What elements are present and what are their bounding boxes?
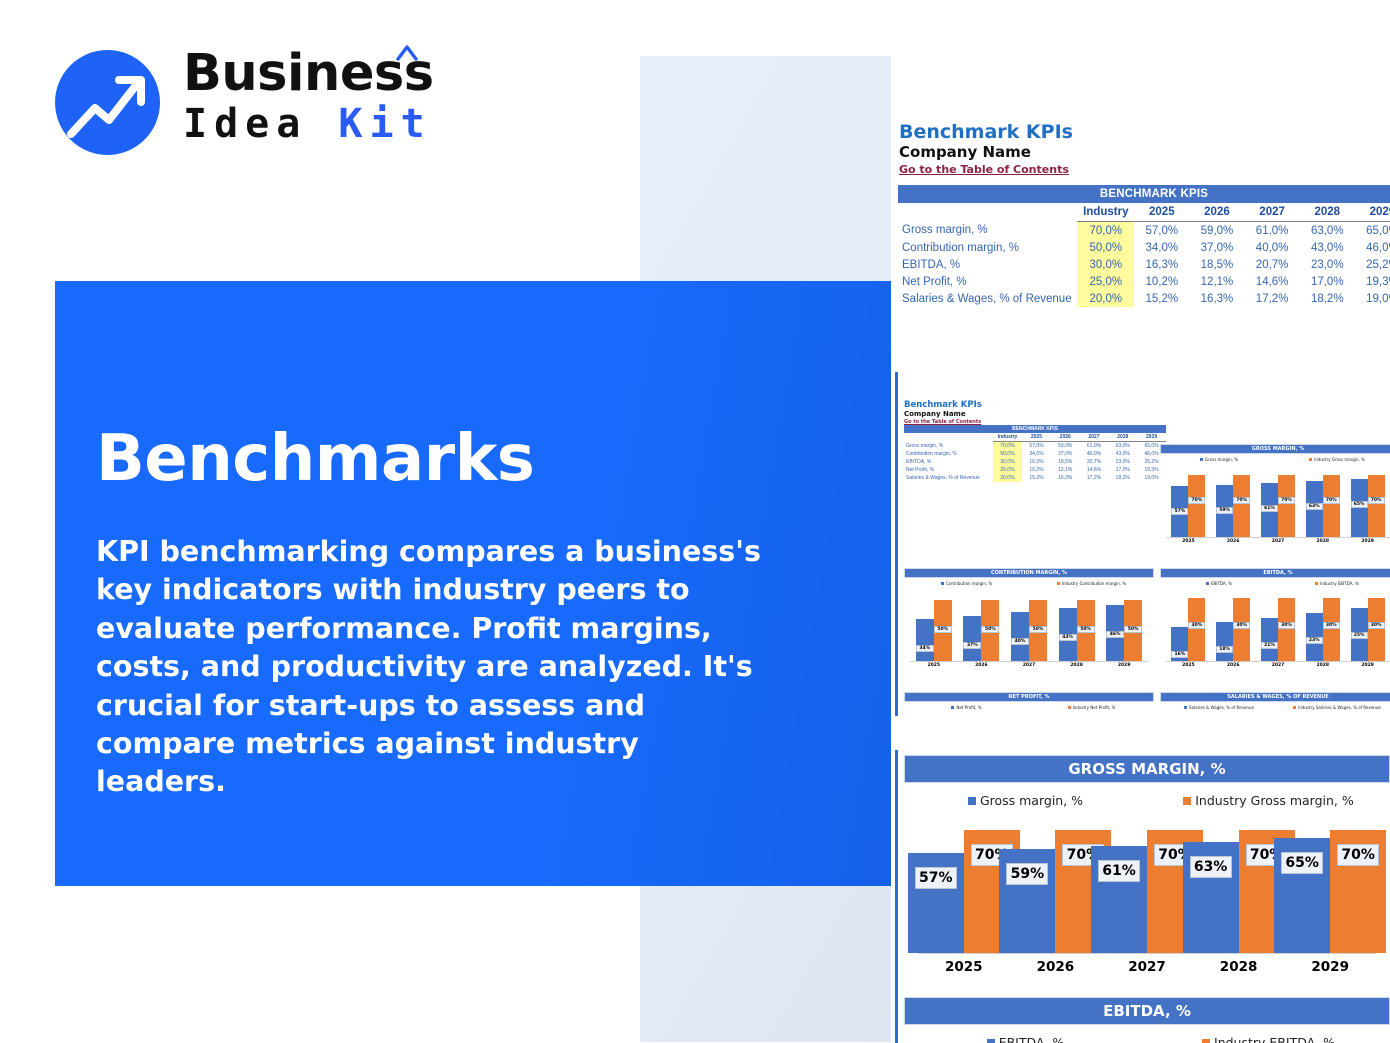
- cell-2027: 14,6%: [1080, 466, 1109, 474]
- legend-swatch-series1: [968, 797, 976, 805]
- bar-2026-s2: [1233, 598, 1250, 661]
- legend-swatch-series1: [951, 706, 954, 709]
- data-label-2026-s2: 70%: [1233, 497, 1250, 504]
- x-axis-label-2025: 2025: [1166, 663, 1211, 668]
- cell-industry: 20,0%: [993, 474, 1022, 482]
- bar-2027-s2: [1278, 598, 1295, 661]
- legend-label-series2: Industry EBITDA, %: [1214, 1035, 1335, 1043]
- data-label-2029-s1: 25%: [1351, 632, 1368, 639]
- row-label: Salaries & Wages, % of Revenue: [904, 474, 993, 482]
- legend-swatch-series1: [1206, 582, 1209, 585]
- data-label-2029-s1: 65%: [1281, 852, 1323, 874]
- data-label-2025-s2: 70%: [1188, 497, 1205, 504]
- data-label-2029-s2: 70%: [1337, 844, 1379, 866]
- header-industry-mini: Industry: [993, 433, 1022, 442]
- table-banner-label: BENCHMARK KPIS: [898, 185, 1390, 203]
- legend-label-series2: Industry Gross margin, %: [1195, 793, 1354, 808]
- x-axis-label-2029: 2029: [1100, 663, 1148, 668]
- bar-2025-s1: [916, 619, 934, 661]
- sheet-title-mini: Benchmark KPIs: [904, 400, 982, 410]
- x-axis-label-2029: 2029: [1345, 539, 1390, 544]
- data-label-2025-s2: 30%: [1188, 622, 1205, 629]
- bar-2026-s2: [1233, 475, 1250, 537]
- cell-2028: 23,0%: [1300, 256, 1355, 273]
- x-axis-label-2027: 2027: [1005, 663, 1053, 668]
- chart-gross-margin-mini: GROSS MARGIN, % Gross margin, % Industry…: [1160, 444, 1390, 566]
- cell-2025: 57,0%: [1134, 222, 1189, 240]
- header-industry: Industry: [1077, 203, 1134, 222]
- data-label-2029-s2: 50%: [1124, 626, 1142, 633]
- cell-2026: 37,0%: [1189, 239, 1244, 256]
- chart-legend: Salaries & Wages, % of Revenue Industry …: [1160, 705, 1390, 710]
- cell-2025: 15,2%: [1134, 290, 1189, 307]
- data-label-2025-s1: 57%: [1171, 508, 1188, 515]
- x-axis-label-2026: 2026: [1211, 539, 1256, 544]
- bar-2025-s2: [1188, 598, 1205, 661]
- sheet-title: Benchmark KPIs: [899, 121, 1073, 143]
- benchmark-kpis-table-mini: BENCHMARK KPIS Industry 2025 2026 2027 2…: [904, 425, 1166, 482]
- cell-2025: 10,2%: [1022, 466, 1051, 474]
- data-label-2027-s1: 21%: [1261, 642, 1278, 649]
- cell-2027: 40,0%: [1245, 239, 1300, 256]
- row-label: Gross margin, %: [904, 442, 993, 451]
- chart-ebitda-large: EBITDA, % EBITDA, % Industry EBITDA, %: [904, 997, 1390, 1043]
- cell-2029: 25,2%: [1355, 256, 1390, 273]
- chart-net-profit-mini: NET PROFIT, % Net Profit, % Industry Net…: [904, 692, 1154, 714]
- chart-axis: [918, 953, 1376, 954]
- cell-2028: 17,0%: [1300, 273, 1355, 290]
- data-label-2028-s1: 23%: [1306, 637, 1323, 644]
- cell-2026: 59,0%: [1189, 222, 1244, 240]
- cell-industry: 25,0%: [993, 466, 1022, 474]
- data-label-2028-s1: 63%: [1190, 856, 1232, 878]
- header-2026-mini: 2026: [1051, 433, 1080, 442]
- data-label-2027-s2: 50%: [1029, 626, 1047, 633]
- legend-swatch-series1: [1184, 706, 1187, 709]
- table-of-contents-link[interactable]: Go to the Table of Contents: [899, 163, 1069, 176]
- cell-2027: 20,7%: [1080, 458, 1109, 466]
- cell-2026: 12,1%: [1189, 273, 1244, 290]
- legend-label-series1: Net Profit, %: [956, 705, 981, 710]
- legend-swatch-series2: [1293, 706, 1296, 709]
- brand-name-kit: Kit: [338, 101, 431, 147]
- legend-swatch-series1: [987, 1039, 995, 1043]
- x-axis-label-2028: 2028: [1193, 959, 1285, 975]
- data-label-2028-s2: 30%: [1323, 622, 1340, 629]
- x-axis-label-2026: 2026: [1010, 959, 1102, 975]
- cell-2029: 19,0%: [1355, 290, 1390, 307]
- cell-2025: 57,0%: [1022, 442, 1051, 451]
- data-label-2028-s1: 43%: [1059, 634, 1077, 641]
- cell-2026: 37,0%: [1051, 450, 1080, 458]
- data-label-2026-s1: 37%: [963, 642, 981, 649]
- data-label-2025-s1: 57%: [915, 867, 957, 889]
- bar-2027-s2: [1278, 475, 1295, 537]
- x-axis-label-2029: 2029: [1284, 959, 1376, 975]
- chart-contribution-margin-mini: CONTRIBUTION MARGIN, % Contribution marg…: [904, 568, 1154, 690]
- header-2028-mini: 2028: [1108, 433, 1137, 442]
- header-2025: 2025: [1134, 203, 1189, 222]
- cell-2025: 34,0%: [1134, 239, 1189, 256]
- cell-2028: 18,2%: [1108, 474, 1137, 482]
- table-row: Gross margin, % 70,0% 57,0% 59,0% 61,0% …: [898, 222, 1390, 240]
- chart-title: NET PROFIT, %: [904, 692, 1154, 702]
- data-label-2027-s2: 30%: [1278, 622, 1295, 629]
- legend-swatch-series2: [1315, 582, 1318, 585]
- sheet-subtitle-mini: Company Name: [904, 410, 966, 418]
- cell-2026: 18,5%: [1189, 256, 1244, 273]
- cell-2027: 61,0%: [1245, 222, 1300, 240]
- cell-industry: 25,0%: [1077, 273, 1134, 290]
- row-label: Salaries & Wages, % of Revenue: [898, 290, 1077, 307]
- brand-name-idea: Idea: [183, 101, 338, 147]
- header-2025-mini: 2025: [1022, 433, 1051, 442]
- cell-2028: 18,2%: [1300, 290, 1355, 307]
- bar-2026-s1: [1216, 622, 1233, 661]
- x-axis-label-2029: 2029: [1345, 663, 1390, 668]
- page-title: Benchmarks: [96, 424, 534, 494]
- data-label-2028-s1: 63%: [1306, 503, 1323, 510]
- bar-2029-s2: [1368, 475, 1385, 537]
- brand-name-line2: Idea Kit: [183, 101, 434, 147]
- row-label: Contribution margin, %: [904, 450, 993, 458]
- cell-2025: 34,0%: [1022, 450, 1051, 458]
- cell-2026: 18,5%: [1051, 458, 1080, 466]
- header-2027-mini: 2027: [1080, 433, 1109, 442]
- data-label-2027-s2: 70%: [1278, 497, 1295, 504]
- table-row: EBITDA, % 30,0% 16,3% 18,5% 20,7% 23,0% …: [904, 458, 1166, 466]
- row-label: Contribution margin, %: [898, 239, 1077, 256]
- brand-logo: Business Idea Kit: [55, 47, 455, 159]
- growth-arrow-icon: [55, 50, 160, 155]
- chart-title: EBITDA, %: [1160, 568, 1390, 578]
- legend-label-series1: Salaries & Wages, % of Revenue: [1189, 705, 1254, 710]
- cell-2025: 16,3%: [1134, 256, 1189, 273]
- cell-industry: 50,0%: [993, 450, 1022, 458]
- cell-2029: 19,3%: [1355, 273, 1390, 290]
- data-label-2026-s1: 59%: [1006, 863, 1048, 885]
- chart-plot: 16%30%202518%30%202621%30%202723%30%2028…: [1160, 586, 1390, 674]
- legend-swatch-series1: [1200, 458, 1203, 461]
- table-row: Contribution margin, % 50,0% 34,0% 37,0%…: [904, 450, 1166, 458]
- chart-plot: 57%70%202559%70%202661%70%202763%70%2028…: [904, 808, 1390, 983]
- row-label: EBITDA, %: [898, 256, 1077, 273]
- cell-industry: 30,0%: [993, 458, 1022, 466]
- data-label-2025-s1: 34%: [916, 645, 934, 652]
- chart-title: EBITDA, %: [904, 997, 1390, 1025]
- chart-title: GROSS MARGIN, %: [1160, 444, 1390, 454]
- legend-swatch-series2: [1057, 582, 1060, 585]
- data-label-2026-s2: 50%: [981, 626, 999, 633]
- cell-2025: 16,3%: [1022, 458, 1051, 466]
- chart-axis: [1166, 661, 1390, 662]
- cell-2028: 63,0%: [1108, 442, 1137, 451]
- cell-industry: 50,0%: [1077, 239, 1134, 256]
- legend-swatch-series2: [1068, 706, 1071, 709]
- chart-title: GROSS MARGIN, %: [904, 755, 1390, 783]
- chart-ebitda-mini: EBITDA, % EBITDA, % Industry EBITDA, % 1…: [1160, 568, 1390, 690]
- cell-industry: 70,0%: [993, 442, 1022, 451]
- header-blank: [898, 203, 1077, 222]
- chart-axis: [910, 661, 1148, 662]
- cell-2027: 17,2%: [1245, 290, 1300, 307]
- legend-swatch-series2: [1202, 1039, 1210, 1043]
- bar-2027-s1: [1261, 618, 1278, 661]
- screenshot-card-chart-large: GROSS MARGIN, % Gross margin, % Industry…: [895, 750, 1390, 1043]
- cell-2026: 16,3%: [1189, 290, 1244, 307]
- x-axis-label-2025: 2025: [1166, 539, 1211, 544]
- bar-2028-s2: [1323, 598, 1340, 661]
- cell-industry: 30,0%: [1077, 256, 1134, 273]
- cell-industry: 20,0%: [1077, 290, 1134, 307]
- table-row: Net Profit, % 25,0% 10,2% 12,1% 14,6% 17…: [898, 273, 1390, 290]
- table-header-row: Industry 2025 2026 2027 2028 2029: [898, 203, 1390, 222]
- x-axis-label-2025: 2025: [918, 959, 1010, 975]
- x-axis-label-2028: 2028: [1300, 539, 1345, 544]
- legend-label-series2: Industry Salaries & Wages, % of Revenue: [1298, 705, 1381, 710]
- cell-2029: 46,0%: [1355, 239, 1390, 256]
- data-label-2026-s2: 30%: [1233, 622, 1250, 629]
- brand-caret-accent: [396, 45, 418, 61]
- header-2028: 2028: [1300, 203, 1355, 222]
- chart-legend: Net Profit, % Industry Net Profit, %: [904, 705, 1154, 710]
- cell-2029: 65,0%: [1355, 222, 1390, 240]
- data-label-2026-s1: 18%: [1216, 646, 1233, 653]
- legend-label-series1: EBITDA, %: [999, 1035, 1065, 1043]
- chart-salaries-wages-mini: SALARIES & WAGES, % OF REVENUE Salaries …: [1160, 692, 1390, 714]
- legend-swatch-series2: [1309, 458, 1312, 461]
- data-label-2029-s1: 65%: [1351, 501, 1368, 508]
- cell-2027: 61,0%: [1080, 442, 1109, 451]
- data-label-2026-s1: 59%: [1216, 507, 1233, 514]
- sheet-subtitle: Company Name: [899, 143, 1031, 161]
- cell-2028: 63,0%: [1300, 222, 1355, 240]
- hero-description: KPI benchmarking compares a business's k…: [96, 533, 766, 802]
- benchmark-kpis-table: BENCHMARK KPIS Industry 2025 2026 2027 2…: [898, 185, 1390, 307]
- legend-label-series1: Gross margin, %: [980, 793, 1083, 808]
- bar-2028-s2: [1323, 475, 1340, 537]
- x-axis-label-2027: 2027: [1256, 539, 1301, 544]
- bar-2025-s2: [1188, 475, 1205, 537]
- cell-2025: 15,2%: [1022, 474, 1051, 482]
- table-row: Salaries & Wages, % of Revenue 20,0% 15,…: [904, 474, 1166, 482]
- cell-2027: 14,6%: [1245, 273, 1300, 290]
- header-2027: 2027: [1245, 203, 1300, 222]
- data-label-2029-s1: 46%: [1106, 631, 1124, 638]
- data-label-2028-s2: 70%: [1323, 497, 1340, 504]
- header-2026: 2026: [1189, 203, 1244, 222]
- table-row: Net Profit, % 25,0% 10,2% 12,1% 14,6% 17…: [904, 466, 1166, 474]
- x-axis-label-2026: 2026: [1211, 663, 1256, 668]
- chart-legend: EBITDA, % Industry EBITDA, %: [904, 1035, 1390, 1043]
- chart-plot: 34%50%202537%50%202640%50%202743%50%2028…: [904, 586, 1154, 674]
- cell-2028: 43,0%: [1108, 450, 1137, 458]
- table-row: Contribution margin, % 50,0% 34,0% 37,0%…: [898, 239, 1390, 256]
- cell-2025: 10,2%: [1134, 273, 1189, 290]
- bar-2027-s1: [1011, 612, 1029, 661]
- table-row: Gross margin, % 70,0% 57,0% 59,0% 61,0% …: [904, 442, 1166, 451]
- x-axis-label-2027: 2027: [1101, 959, 1193, 975]
- cell-2026: 59,0%: [1051, 442, 1080, 451]
- row-label: Net Profit, %: [898, 273, 1077, 290]
- chart-title: SALARIES & WAGES, % OF REVENUE: [1160, 692, 1390, 702]
- cell-2027: 20,7%: [1245, 256, 1300, 273]
- row-label: Net Profit, %: [904, 466, 993, 474]
- legend-label-series2: Industry Net Profit, %: [1073, 705, 1116, 710]
- table-banner-label-mini: BENCHMARK KPIS: [904, 425, 1166, 433]
- data-label-2029-s2: 30%: [1368, 622, 1385, 629]
- cell-2028: 17,0%: [1108, 466, 1137, 474]
- cell-2026: 16,3%: [1051, 474, 1080, 482]
- header-blank-mini: [904, 433, 993, 442]
- chart-gross-margin-large: GROSS MARGIN, % Gross margin, % Industry…: [904, 755, 1390, 1005]
- cell-2027: 17,2%: [1080, 474, 1109, 482]
- header-2029: 2029: [1355, 203, 1390, 222]
- x-axis-label-2026: 2026: [958, 663, 1006, 668]
- x-axis-label-2027: 2027: [1256, 663, 1301, 668]
- screenshot-card-dashboard: Benchmark KPIs Company Name Go to the Ta…: [895, 372, 1390, 716]
- data-label-2027-s1: 40%: [1011, 638, 1029, 645]
- chart-title: CONTRIBUTION MARGIN, %: [904, 568, 1154, 578]
- chart-legend: Gross margin, % Industry Gross margin, %: [904, 793, 1390, 808]
- legend-swatch-series1: [941, 582, 944, 585]
- bar-2029-s2: [1368, 598, 1385, 661]
- slide-root: Business Idea Kit Benchmarks KPI benchma…: [0, 0, 1390, 1043]
- cell-2026: 12,1%: [1051, 466, 1080, 474]
- cell-2028: 43,0%: [1300, 239, 1355, 256]
- cell-2028: 23,0%: [1108, 458, 1137, 466]
- chart-axis: [1166, 537, 1390, 538]
- x-axis-label-2025: 2025: [910, 663, 958, 668]
- table-row: EBITDA, % 30,0% 16,3% 18,5% 20,7% 23,0% …: [898, 256, 1390, 273]
- data-label-2025-s2: 50%: [934, 626, 952, 633]
- row-label: EBITDA, %: [904, 458, 993, 466]
- x-axis-label-2028: 2028: [1053, 663, 1101, 668]
- data-label-2028-s2: 50%: [1077, 626, 1095, 633]
- data-label-2029-s2: 70%: [1368, 497, 1385, 504]
- screenshot-card-table: Benchmark KPIs Company Name Go to the Ta…: [895, 57, 1390, 365]
- row-label: Gross margin, %: [898, 222, 1077, 240]
- data-label-2027-s1: 61%: [1261, 505, 1278, 512]
- cell-industry: 70,0%: [1077, 222, 1134, 240]
- data-label-2025-s1: 16%: [1171, 651, 1188, 658]
- hero-panel: Benchmarks KPI benchmarking compares a b…: [55, 281, 891, 886]
- data-label-2027-s1: 61%: [1098, 860, 1140, 882]
- cell-2027: 40,0%: [1080, 450, 1109, 458]
- table-row: Salaries & Wages, % of Revenue 20,0% 15,…: [898, 290, 1390, 307]
- table-header-row-mini: Industry 2025 2026 2027 2028 2029: [904, 433, 1166, 442]
- header-2029-mini: 2029: [1137, 433, 1166, 442]
- table-banner-row: BENCHMARK KPIS: [898, 185, 1390, 203]
- x-axis-label-2028: 2028: [1300, 663, 1345, 668]
- bar-2026-s1: [963, 616, 981, 661]
- legend-swatch-series2: [1183, 797, 1191, 805]
- chart-plot: 57%70%202559%70%202661%70%202763%70%2028…: [1160, 462, 1390, 550]
